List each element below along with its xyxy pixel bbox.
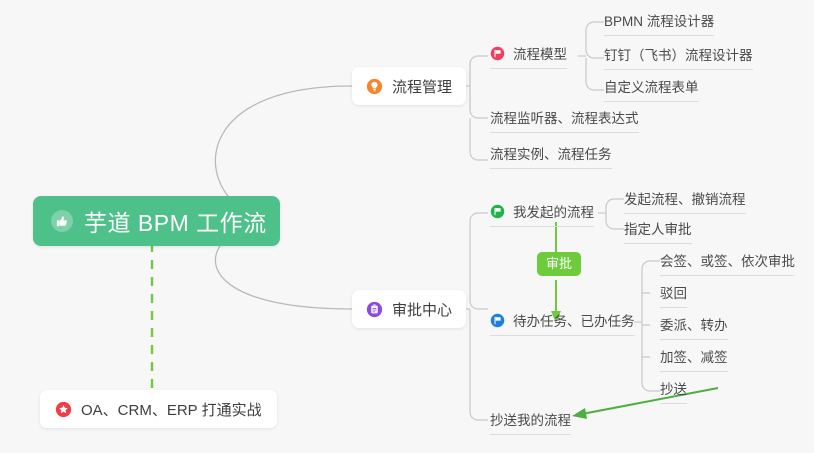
callout-node-integration[interactable]: OA、CRM、ERP 打通实战 <box>40 390 277 428</box>
tag-approval[interactable]: 审批 <box>537 252 581 276</box>
branch-node-approval-center[interactable]: 审批中心 <box>352 290 466 328</box>
node-add-remove-sign[interactable]: 加签、减签 <box>660 346 728 372</box>
node-my-initiated-process[interactable]: 我发起的流程 <box>490 201 594 227</box>
flag-icon <box>490 313 505 328</box>
node-countersign[interactable]: 会签、或签、依次审批 <box>660 250 795 276</box>
star-icon <box>55 401 72 418</box>
node-dingtalk-designer[interactable]: 钉钉（飞书）流程设计器 <box>604 44 753 70</box>
branch-label: 审批中心 <box>392 299 452 320</box>
node-label: 待办任务、已办任务 <box>513 310 635 330</box>
callout-label: OA、CRM、ERP 打通实战 <box>81 399 262 420</box>
thumbs-up-icon <box>50 209 74 233</box>
node-todo-done-tasks[interactable]: 待办任务、已办任务 <box>490 310 635 336</box>
node-reject[interactable]: 驳回 <box>660 282 687 308</box>
node-delegate-transfer[interactable]: 委派、转办 <box>660 314 728 340</box>
node-custom-form[interactable]: 自定义流程表单 <box>604 76 699 102</box>
flag-icon <box>490 46 505 61</box>
branch-label: 流程管理 <box>392 76 452 97</box>
clipboard-icon <box>366 301 383 318</box>
node-process-listener[interactable]: 流程监听器、流程表达式 <box>490 107 639 133</box>
node-process-instance[interactable]: 流程实例、流程任务 <box>490 143 612 169</box>
node-carbon-copy[interactable]: 抄送 <box>660 378 687 404</box>
node-label: 流程模型 <box>513 43 567 63</box>
root-label: 芋道 BPM 工作流 <box>84 204 267 238</box>
node-assignee-approval[interactable]: 指定人审批 <box>624 218 692 244</box>
node-bpmn-designer[interactable]: BPMN 流程设计器 <box>604 10 714 36</box>
flag-icon <box>490 204 505 219</box>
branch-node-process-management[interactable]: 流程管理 <box>352 67 466 105</box>
node-label: 我发起的流程 <box>513 201 594 221</box>
node-start-cancel-process[interactable]: 发起流程、撤销流程 <box>624 188 746 214</box>
lightbulb-icon <box>366 78 383 95</box>
node-cc-to-me[interactable]: 抄送我的流程 <box>490 409 571 435</box>
node-process-model[interactable]: 流程模型 <box>490 43 567 69</box>
mindmap-canvas: 芋道 BPM 工作流 流程管理 审批中心 <box>0 0 814 453</box>
root-node[interactable]: 芋道 BPM 工作流 <box>33 196 280 246</box>
